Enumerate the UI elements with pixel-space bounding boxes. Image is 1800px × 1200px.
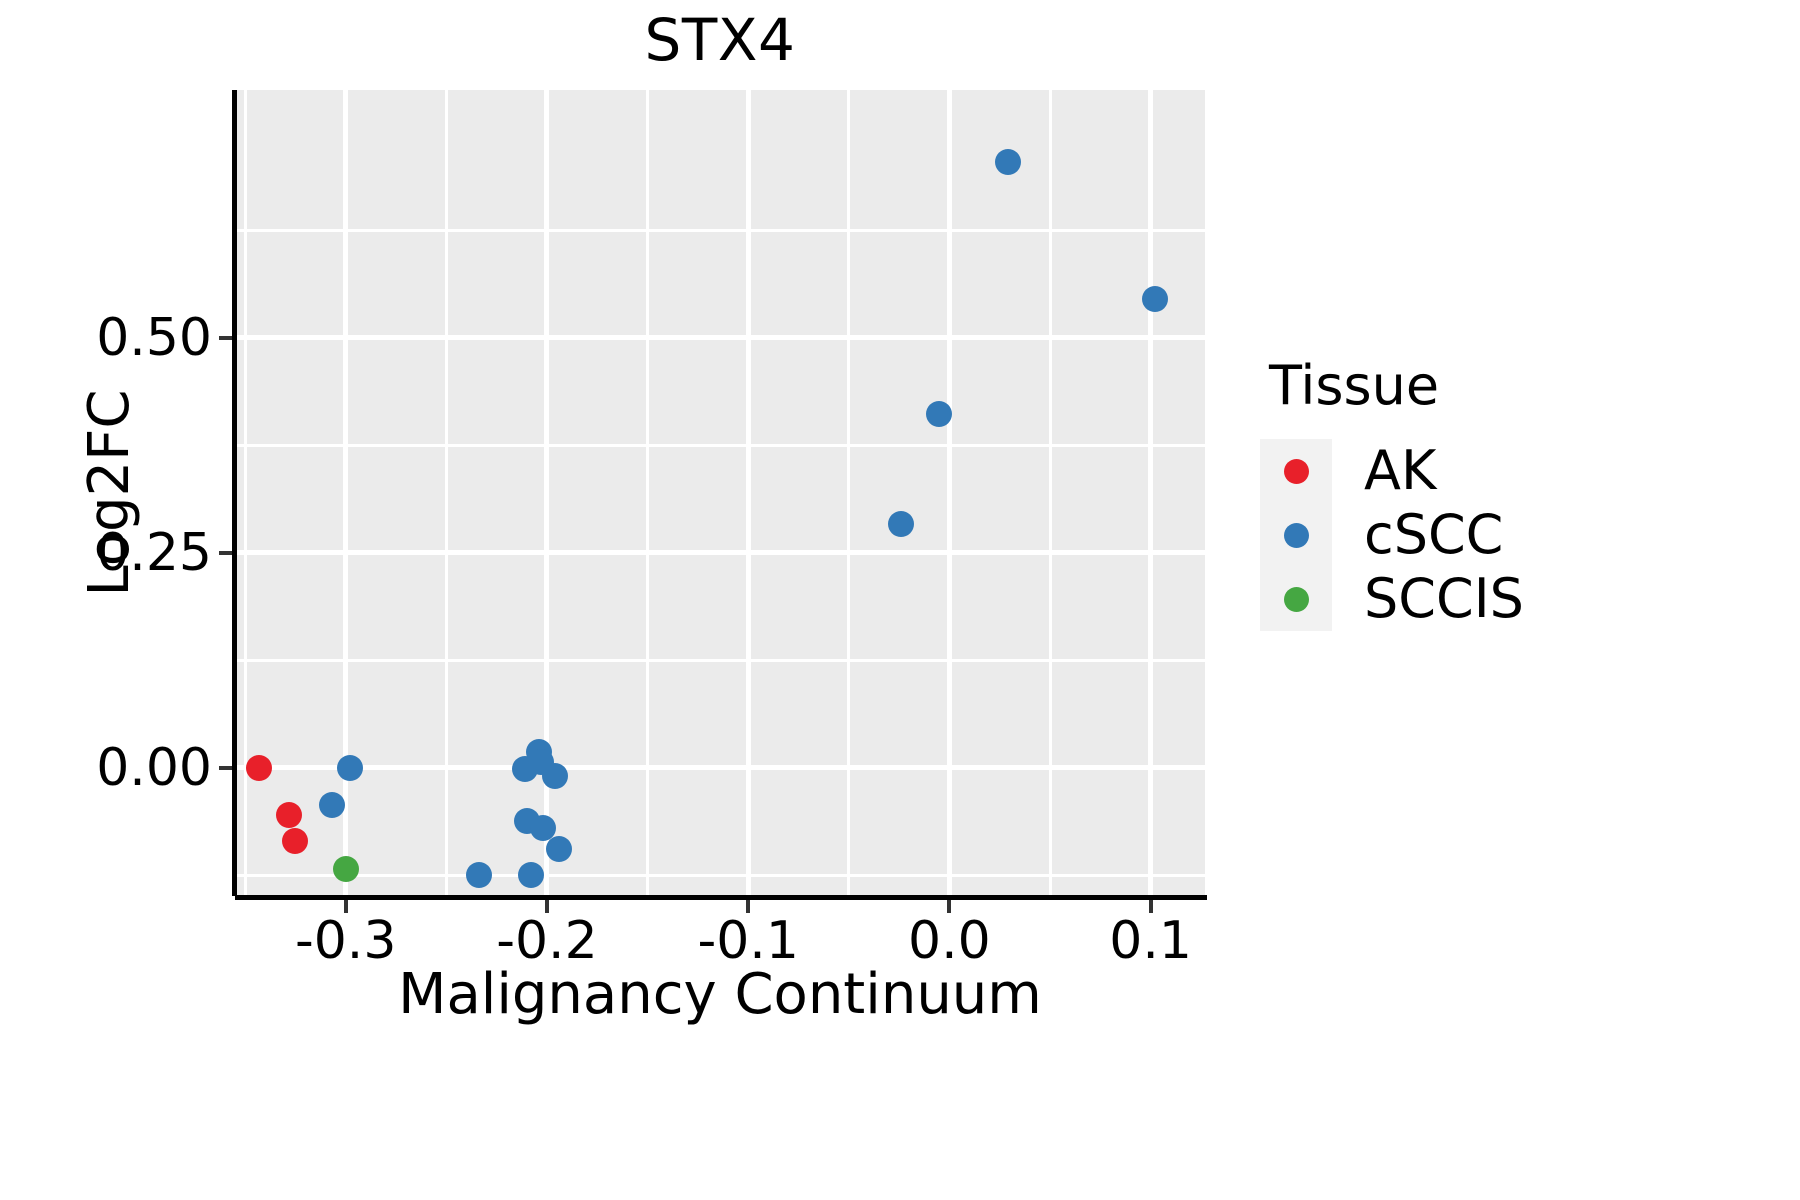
x-tick-label: 0.1	[1051, 912, 1251, 970]
gridline-vertical-major	[1148, 90, 1153, 895]
legend-dot-icon	[1284, 587, 1309, 612]
data-point-cscc	[546, 836, 572, 862]
gridline-horizontal-major	[235, 550, 1205, 555]
plot-panel	[235, 90, 1205, 895]
legend-item-sccis[interactable]: SCCIS	[1260, 567, 1780, 631]
gridline-horizontal-minor	[235, 444, 1205, 447]
x-tick-label: -0.2	[447, 912, 647, 970]
y-tick-mark	[219, 766, 232, 770]
legend-title: Tissue	[1269, 355, 1780, 417]
legend-item-label: SCCIS	[1364, 570, 1524, 628]
gridline-horizontal-major	[235, 765, 1205, 770]
gridline-horizontal-minor	[235, 229, 1205, 232]
gridline-vertical-major	[746, 90, 751, 895]
data-point-cscc	[542, 763, 568, 789]
y-tick-label: 0.00	[0, 739, 212, 797]
data-point-cscc	[888, 511, 914, 537]
x-tick-label: -0.1	[648, 912, 848, 970]
legend-item-label: AK	[1364, 442, 1436, 500]
x-axis-label: Malignancy Continuum	[235, 963, 1205, 1027]
legend-item-cscc[interactable]: cSCC	[1260, 503, 1780, 567]
data-point-cscc	[995, 149, 1021, 175]
y-tick-mark	[219, 336, 232, 340]
legend-key-swatch	[1260, 567, 1332, 631]
data-point-cscc	[319, 792, 345, 818]
data-point-cscc	[926, 401, 952, 427]
legend-dot-icon	[1284, 459, 1309, 484]
gridline-vertical-minor	[445, 90, 448, 895]
legend-item-label: cSCC	[1364, 506, 1503, 564]
legend-entries: AKcSCCSCCIS	[1260, 439, 1780, 631]
legend-key-swatch	[1260, 439, 1332, 503]
legend-dot-icon	[1284, 523, 1309, 548]
data-point-ak	[246, 755, 272, 781]
data-point-cscc	[466, 862, 492, 888]
y-tick-label: 0.25	[0, 524, 212, 582]
data-point-cscc	[518, 862, 544, 888]
data-point-ak	[276, 802, 302, 828]
gridline-horizontal-major	[235, 335, 1205, 340]
gridline-horizontal-minor	[235, 874, 1205, 877]
gridline-horizontal-minor	[235, 659, 1205, 662]
page-title: STX4	[0, 8, 1440, 72]
gridline-vertical-minor	[646, 90, 649, 895]
x-tick-label: -0.3	[246, 912, 446, 970]
x-tick-label: 0.0	[849, 912, 1049, 970]
y-tick-mark	[219, 551, 232, 555]
data-point-cscc	[337, 755, 363, 781]
legend: Tissue AKcSCCSCCIS	[1260, 355, 1780, 631]
legend-item-ak[interactable]: AK	[1260, 439, 1780, 503]
y-tick-label: 0.50	[0, 309, 212, 367]
data-point-sccis	[333, 856, 359, 882]
scatter-plot-figure: STX4 Malignancy Continuum Log2FC Tissue …	[0, 0, 1800, 1200]
gridline-vertical-minor	[847, 90, 850, 895]
y-axis-line	[232, 90, 237, 896]
gridline-vertical-minor	[1049, 90, 1052, 895]
legend-key-swatch	[1260, 503, 1332, 567]
gridline-vertical-minor	[244, 90, 247, 895]
data-point-ak	[282, 828, 308, 854]
x-axis-line	[235, 895, 1207, 900]
gridline-vertical-major	[947, 90, 952, 895]
data-point-cscc	[1142, 286, 1168, 312]
